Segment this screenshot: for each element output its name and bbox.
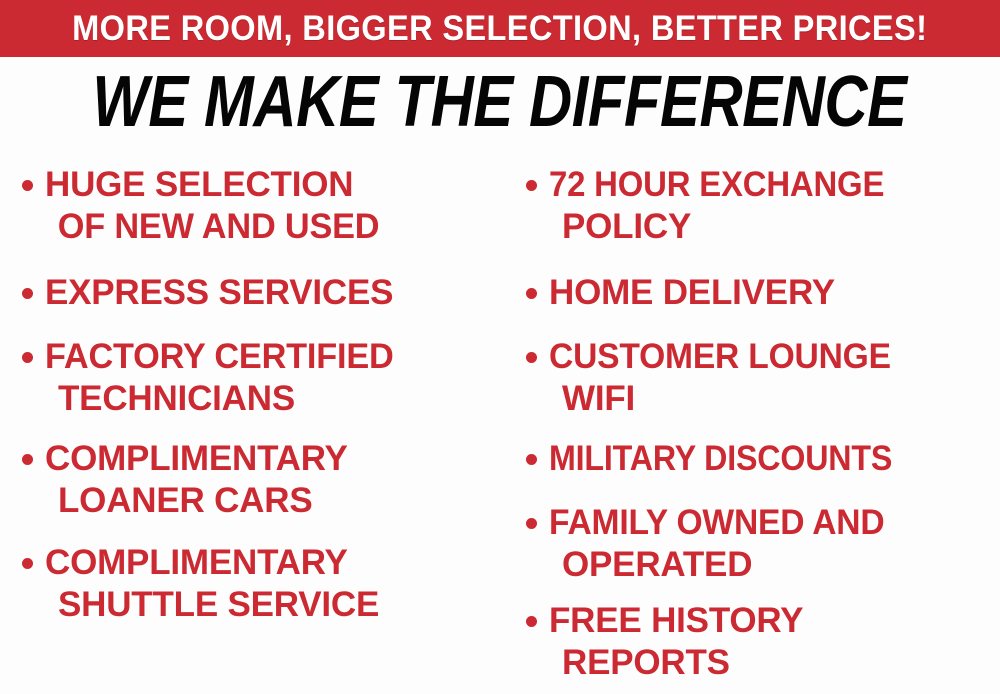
feature-line-1: HOME DELIVERY: [549, 273, 835, 312]
feature-column-right: 72 HOUR EXCHANGE POLICY HOME DELIVERY CU…: [500, 158, 1000, 694]
feature-text: HUGE SELECTION OF NEW AND USED: [45, 164, 492, 248]
feature-line-1: COMPLIMENTARY: [45, 543, 348, 582]
feature-columns: HUGE SELECTION OF NEW AND USED EXPRESS S…: [0, 158, 1000, 694]
feature-line-2: OF NEW AND USED: [45, 206, 379, 248]
feature-item: HOME DELIVERY: [526, 272, 1000, 314]
feature-text: FACTORY CERTIFIED TECHNICIANS: [45, 336, 497, 420]
feature-item: FAMILY OWNED AND OPERATED: [526, 502, 1000, 586]
feature-text: 72 HOUR EXCHANGE POLICY: [549, 164, 1000, 248]
bullet-icon: [526, 518, 537, 529]
promo-poster: MORE ROOM, BIGGER SELECTION, BETTER PRIC…: [0, 0, 1000, 694]
feature-line-2: TECHNICIANS: [45, 379, 295, 418]
feature-item: FREE HISTORY REPORTS: [526, 600, 1000, 684]
feature-text: EXPRESS SERVICES: [45, 272, 492, 314]
feature-text: FAMILY OWNED AND OPERATED: [549, 502, 1000, 586]
top-banner: MORE ROOM, BIGGER SELECTION, BETTER PRIC…: [0, 0, 1000, 57]
bullet-icon: [22, 558, 33, 569]
feature-line-2: SHUTTLE SERVICE: [45, 585, 379, 624]
headline: WE MAKE THE DIFFERENCE: [0, 66, 1000, 138]
feature-line-1: MILITARY DISCOUNTS: [549, 438, 892, 480]
feature-item: FACTORY CERTIFIED TECHNICIANS: [22, 336, 497, 420]
feature-line-1: EXPRESS SERVICES: [45, 273, 393, 312]
feature-item: EXPRESS SERVICES: [22, 272, 492, 314]
feature-item: COMPLIMENTARY LOANER CARS: [22, 438, 492, 522]
feature-line-2: REPORTS: [549, 643, 730, 682]
feature-item: COMPLIMENTARY SHUTTLE SERVICE: [22, 542, 492, 626]
bullet-icon: [22, 180, 33, 191]
feature-text: MILITARY DISCOUNTS: [549, 438, 1000, 480]
feature-text: COMPLIMENTARY SHUTTLE SERVICE: [45, 542, 492, 626]
feature-line-2: POLICY: [549, 207, 691, 246]
feature-line-1: FACTORY CERTIFIED: [45, 336, 394, 378]
feature-line-1: COMPLIMENTARY: [45, 439, 348, 478]
feature-line-1: CUSTOMER LOUNGE: [549, 336, 891, 378]
bullet-icon: [22, 454, 33, 465]
feature-column-left: HUGE SELECTION OF NEW AND USED EXPRESS S…: [0, 158, 500, 694]
feature-line-1: HUGE SELECTION: [45, 165, 353, 204]
feature-line-1: FAMILY OWNED AND: [549, 502, 884, 544]
bullet-icon: [526, 180, 537, 191]
feature-line-2: WIFI: [549, 379, 635, 418]
feature-text: HOME DELIVERY: [549, 272, 1000, 314]
feature-text: COMPLIMENTARY LOANER CARS: [45, 438, 492, 522]
bullet-icon: [526, 288, 537, 299]
bullet-icon: [22, 352, 33, 363]
bullet-icon: [22, 288, 33, 299]
feature-item: HUGE SELECTION OF NEW AND USED: [22, 164, 492, 248]
bullet-icon: [526, 454, 537, 465]
bullet-icon: [526, 352, 537, 363]
bullet-icon: [526, 616, 537, 627]
feature-text: FREE HISTORY REPORTS: [549, 600, 1000, 684]
feature-item: CUSTOMER LOUNGE WIFI: [526, 336, 1000, 420]
feature-item: 72 HOUR EXCHANGE POLICY: [526, 164, 1000, 248]
feature-line-2: LOANER CARS: [45, 481, 312, 520]
feature-line-1: FREE HISTORY: [549, 601, 803, 640]
feature-line-2: OPERATED: [549, 545, 752, 584]
feature-item: MILITARY DISCOUNTS: [526, 438, 1000, 480]
headline-text: WE MAKE THE DIFFERENCE: [93, 66, 907, 138]
top-banner-text: MORE ROOM, BIGGER SELECTION, BETTER PRIC…: [72, 11, 927, 46]
feature-line-1: 72 HOUR EXCHANGE: [549, 164, 884, 206]
feature-text: CUSTOMER LOUNGE WIFI: [549, 336, 1000, 420]
